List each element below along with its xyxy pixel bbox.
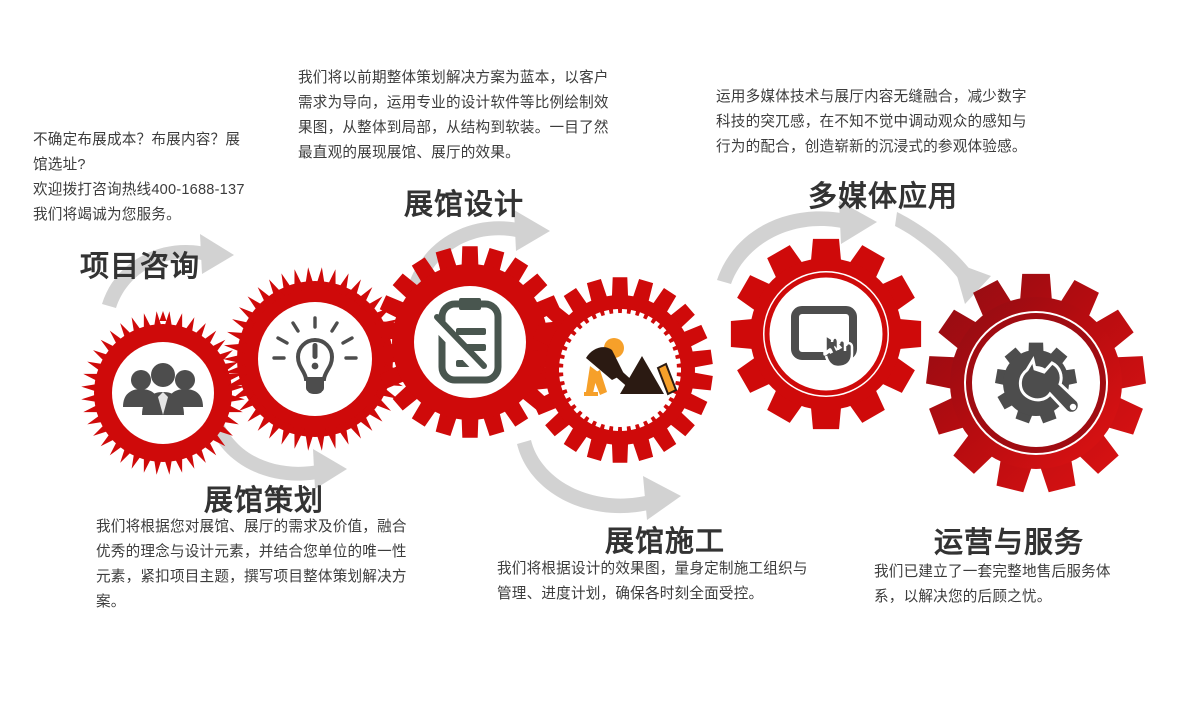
infographic-canvas: 不确定布展成本？布展内容？展 馆选址? 欢迎拨打咨询热线400-1688-137… <box>0 0 1180 703</box>
step-3-heading: 展馆设计 <box>404 181 524 223</box>
step-5-heading: 多媒体应用 <box>808 173 958 215</box>
step-3-body: 我们将以前期整体策划解决方案为蓝本，以客户 需求为导向，运用专业的设计软件等比例… <box>298 66 658 166</box>
step-1-body: 不确定布展成本？布展内容？展 馆选址? 欢迎拨打咨询热线400-1688-137… <box>33 128 283 228</box>
step-6-body: 我们已建立了一套完整地售后服务体 系，以解决您的后顾之忧。 <box>874 560 1174 610</box>
gear-teeth-fine <box>160 311 167 321</box>
step-5-body: 运用多媒体技术与展厅内容无缝融合，减少数字 科技的突兀感，在不知不觉中调动观众的… <box>716 85 1086 160</box>
step-4-body: 我们将根据设计的效果图，量身定制施工组织与 管理、进度计划，确保各时刻全面受控。 <box>497 557 867 607</box>
step-6-heading: 运营与服务 <box>934 519 1084 561</box>
gear-step-5[interactable] <box>728 236 924 432</box>
lightbulb-exclamation <box>312 343 319 369</box>
step-1-heading: 项目咨询 <box>80 243 200 285</box>
step-4-heading: 展馆施工 <box>605 518 725 560</box>
gear-step-6[interactable] <box>925 272 1147 494</box>
step-2-body: 我们将根据您对展馆、展厅的需求及价值，融合 优秀的理念与设计元素，并结合您单位的… <box>96 515 466 615</box>
gear-step-4[interactable] <box>526 276 714 464</box>
step-2-heading: 展馆策划 <box>204 477 324 519</box>
